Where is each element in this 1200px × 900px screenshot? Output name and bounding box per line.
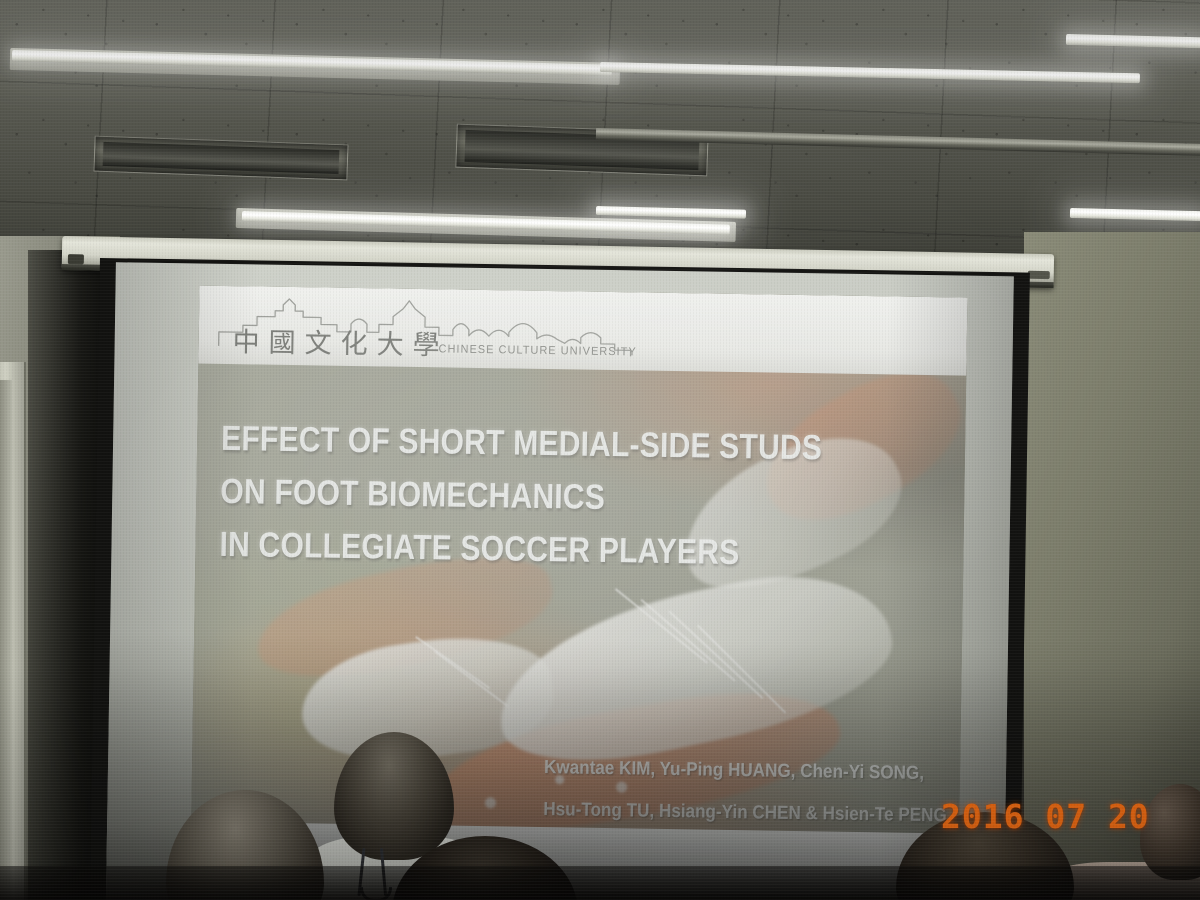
ceiling — [0, 0, 1200, 268]
projected-slide: 中國文化大學 CHINESE CULTURE UNIVERSITY EFFECT… — [190, 286, 967, 898]
roller-bracket — [68, 254, 84, 264]
camera-timestamp: 2016 07 20 — [941, 797, 1150, 836]
roller-end-cap — [1028, 271, 1050, 279]
slide-title: EFFECT OF SHORT MEDIAL-SIDE STUDS ON FOO… — [219, 412, 841, 581]
foreground-shadow — [0, 866, 1200, 900]
university-logo: 中國文化大學 CHINESE CULTURE UNIVERSITY — [216, 292, 777, 371]
lecture-room-photo: 中國文化大學 CHINESE CULTURE UNIVERSITY EFFECT… — [0, 0, 1200, 900]
slide-title-line-3: IN COLLEGIATE SOCCER PLAYERS — [219, 518, 839, 581]
slide-authors: Kwantae KIM, Yu-Ping HUANG, Chen-Yi SONG… — [543, 747, 922, 837]
door-panel — [0, 380, 12, 900]
logo-chinese-name: 中國文化大學 — [232, 320, 449, 362]
slide-title-line-2: ON FOOT BIOMECHANICS — [220, 465, 840, 528]
slide-title-line-1: EFFECT OF SHORT MEDIAL-SIDE STUDS — [221, 412, 841, 475]
university-logo-band: 中國文化大學 CHINESE CULTURE UNIVERSITY — [198, 286, 967, 376]
slide-author-line-1: Kwantae KIM, Yu-Ping HUANG, Chen-Yi SONG… — [544, 747, 923, 795]
